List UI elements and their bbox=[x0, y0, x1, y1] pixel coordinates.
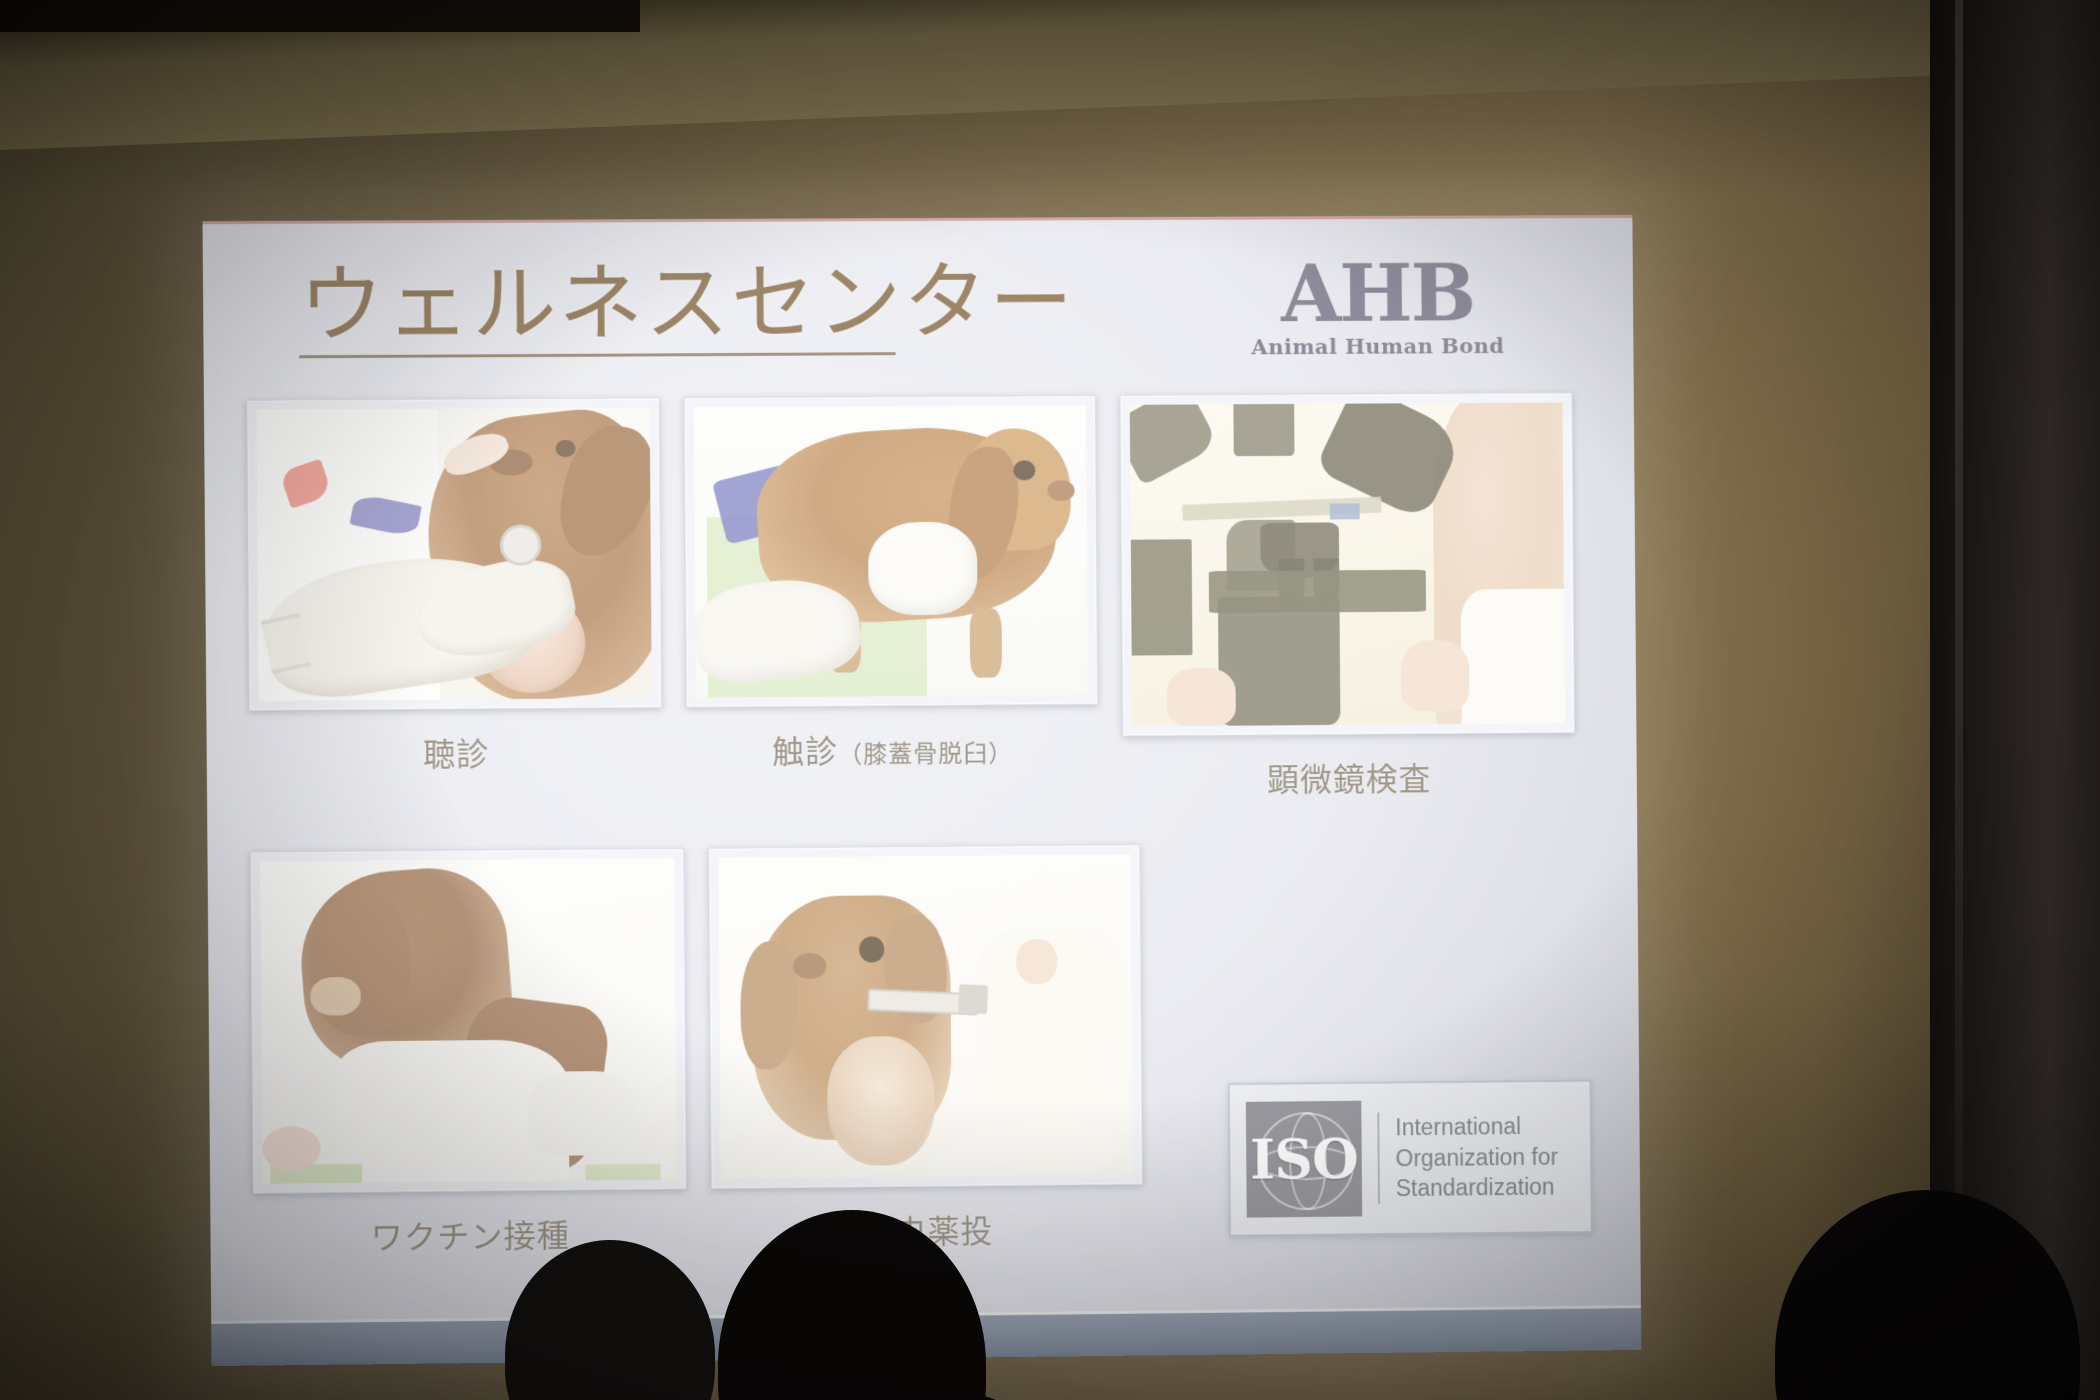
photo-vaccination-image bbox=[260, 858, 677, 1184]
iso-line-1: International bbox=[1395, 1111, 1558, 1143]
ceiling-dark-area bbox=[0, 0, 640, 32]
photo-cell-auscultation: 聴診 bbox=[246, 397, 663, 809]
wall-corner-highlight bbox=[1955, 0, 1963, 1400]
photo-caption-microscopy: 顕微鏡検査 bbox=[1122, 753, 1575, 802]
photo-frame bbox=[684, 395, 1098, 707]
photo-cell-vaccination: ワクチン接種 bbox=[250, 848, 688, 1261]
caption-sub-text: （膝蓋骨脱臼） bbox=[838, 739, 1013, 768]
ahb-logo-subtitle: Animal Human Bond bbox=[1251, 333, 1504, 359]
photo-caption-auscultation: 聴診 bbox=[249, 728, 663, 777]
slide-title-block: ウェルネスセンター bbox=[299, 257, 1076, 358]
page-title: ウェルネスセンター bbox=[299, 257, 1076, 349]
photo-cell-deworming: 駆虫薬投 bbox=[708, 844, 1143, 1255]
photo-microscopy-image bbox=[1129, 402, 1564, 726]
iso-badge: ISO International Organization for Stand… bbox=[1228, 1080, 1593, 1237]
photo-frame bbox=[246, 397, 662, 710]
photo-cell-microscopy: 顕微鏡検査 bbox=[1119, 392, 1575, 802]
iso-badge-text: International Organization for Standardi… bbox=[1395, 1111, 1558, 1203]
photo-row-top: 聴診 bbox=[246, 392, 1599, 809]
iso-line-2: Organization for bbox=[1395, 1141, 1558, 1173]
photo-auscultation-image bbox=[256, 408, 652, 701]
caption-main-text: 聴診 bbox=[423, 735, 490, 774]
photo-cell-palpation: 触診（膝蓋骨脱臼） bbox=[684, 395, 1099, 806]
projected-slide[interactable]: ウェルネスセンター AHB Animal Human Bond bbox=[202, 215, 1641, 1366]
caption-main-text: 触診 bbox=[772, 732, 838, 771]
iso-line-3: Standardization bbox=[1396, 1172, 1559, 1204]
photo-frame bbox=[708, 844, 1143, 1189]
caption-main-text: 顕微鏡検査 bbox=[1267, 760, 1431, 799]
photo-frame bbox=[1119, 392, 1574, 736]
iso-mark-text: ISO bbox=[1250, 1132, 1358, 1187]
presentation-room-scene: ウェルネスセンター AHB Animal Human Bond bbox=[0, 0, 2100, 1400]
iso-globe-icon: ISO bbox=[1246, 1101, 1362, 1218]
ahb-logo-mark: AHB bbox=[1251, 257, 1505, 332]
ahb-logo: AHB Animal Human Bond bbox=[1251, 257, 1505, 359]
photo-palpation-image bbox=[694, 405, 1088, 697]
caption-main-text: ワクチン接種 bbox=[371, 1217, 570, 1257]
photo-deworming-image bbox=[718, 854, 1132, 1179]
photo-caption-palpation: 触診（膝蓋骨脱臼） bbox=[687, 724, 1099, 773]
iso-divider bbox=[1377, 1113, 1380, 1205]
photo-frame bbox=[250, 848, 687, 1194]
